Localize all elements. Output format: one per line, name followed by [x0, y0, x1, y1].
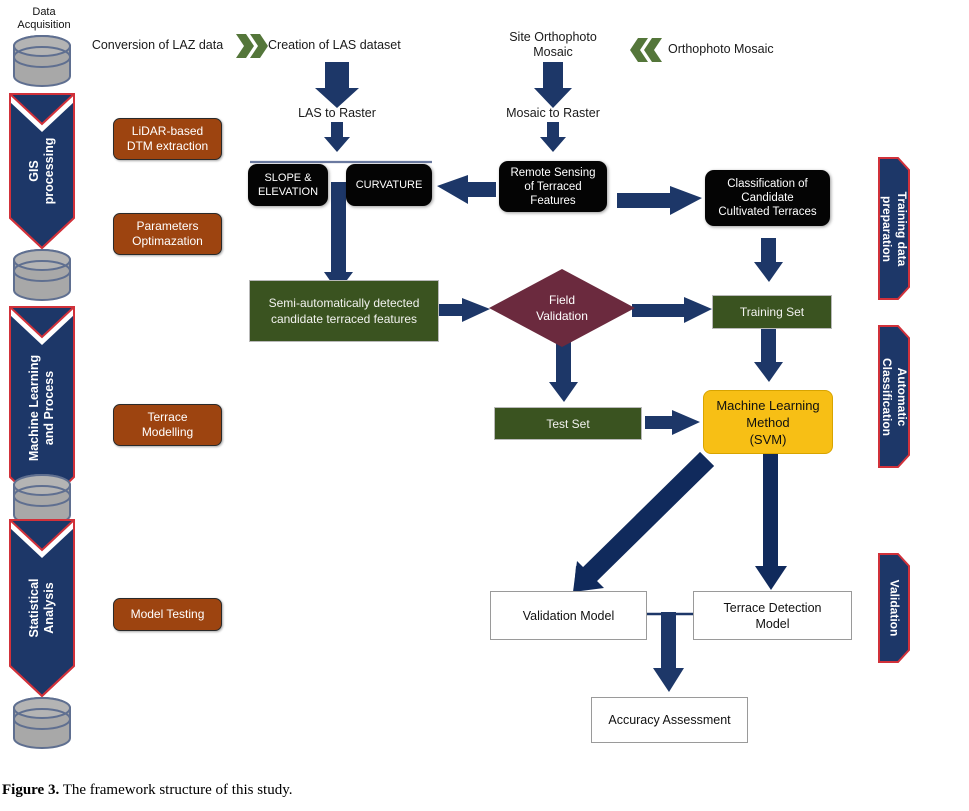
- phase-arrow-label: Statistical Analysis: [27, 533, 57, 683]
- arrow-field-validation-to-training-set: [632, 297, 712, 323]
- label-conversion-of-laz-data: Conversion of LAZ data: [80, 38, 235, 53]
- arrow-orthophoto-to-mosaic-raster: [534, 62, 572, 108]
- box-validation-model[interactable]: Validation Model: [490, 591, 647, 640]
- chip-parameters-optimazation[interactable]: Parameters Optimazation: [113, 213, 222, 255]
- phase-arrow-label: GIS processing: [27, 96, 57, 246]
- figure-caption: Figure 3. The framework structure of thi…: [2, 782, 602, 799]
- arrow-las-dataset-to-las-raster: [315, 62, 359, 108]
- banner-validation: Validation: [878, 553, 910, 663]
- chip-terrace-modelling[interactable]: Terrace Modelling: [113, 404, 222, 446]
- arrow-mosaic-raster-to-remote-sensing: [540, 122, 566, 152]
- box-curvature[interactable]: CURVATURE: [346, 164, 432, 206]
- chevron-right-icon-1: [236, 34, 268, 58]
- label-las-to-raster: LAS to Raster: [272, 106, 402, 121]
- phase-arrow-statistical-analysis: Statistical Analysis: [8, 518, 76, 698]
- label-orthophoto-mosaic: Orthophoto Mosaic: [668, 42, 828, 57]
- label-creation-of-las-dataset: Creation of LAS dataset: [268, 38, 443, 53]
- phase-arrow-label: Machine Learning and Process: [27, 333, 57, 483]
- chip-model-testing[interactable]: Model Testing: [113, 598, 222, 631]
- figure-caption-text: The framework structure of this study.: [59, 782, 292, 798]
- figure-canvas: Data Acquisition GIS processing Machine …: [0, 0, 969, 811]
- datastore-1: [10, 34, 74, 88]
- arrow-remote-sensing-to-classification: [617, 186, 702, 215]
- column-title-data-acquisition: Data Acquisition: [8, 6, 80, 32]
- phase-arrow-gis-processing: GIS processing: [8, 92, 76, 250]
- box-slope-elevation[interactable]: SLOPE & ELEVATION: [248, 164, 328, 206]
- box-semi-automatically-detected[interactable]: Semi-automatically detected candidate te…: [249, 280, 439, 342]
- box-accuracy-assessment[interactable]: Accuracy Assessment: [591, 697, 748, 743]
- box-training-set[interactable]: Training Set: [712, 295, 832, 329]
- arrow-training-set-to-svm: [754, 325, 783, 382]
- arrow-classification-to-training-set: [754, 238, 783, 282]
- arrow-semi-auto-to-field-validation: [437, 298, 490, 322]
- label-site-orthophoto-mosaic: Site Orthophoto Mosaic: [492, 30, 614, 60]
- box-test-set[interactable]: Test Set: [494, 407, 642, 440]
- shape-field-validation[interactable]: Field Validation: [488, 268, 636, 348]
- banner-automatic-classification: Automatic Classification: [878, 325, 910, 468]
- arrow-remote-sensing-to-derivatives: [437, 175, 496, 204]
- banner-training-data-preparation: Training data preparation: [878, 157, 910, 300]
- arrow-field-validation-to-test-set: [549, 340, 578, 402]
- datastore-2: [10, 248, 74, 302]
- datastore-4: [10, 696, 74, 750]
- arrow-svm-to-terrace-detection: [755, 452, 787, 590]
- banner-label: Automatic Classification: [879, 302, 909, 492]
- banner-label: Validation: [887, 513, 902, 703]
- connector-models-to-accuracy: [643, 612, 694, 692]
- chip-lidar-dtm-extraction[interactable]: LiDAR-based DTM extraction: [113, 118, 222, 160]
- arrow-svm-to-validation-model: [573, 452, 714, 592]
- box-machine-learning-method-svm[interactable]: Machine Learning Method (SVM): [703, 390, 833, 454]
- label-mosaic-to-raster: Mosaic to Raster: [488, 106, 618, 121]
- banner-label: Training data preparation: [879, 134, 909, 324]
- figure-caption-label: Figure 3.: [2, 782, 59, 798]
- arrow-las-raster-to-derivatives: [324, 122, 350, 152]
- chevron-left-icon-1: [630, 38, 662, 62]
- box-terrace-detection-model[interactable]: Terrace Detection Model: [693, 591, 852, 640]
- arrow-test-set-to-svm: [645, 410, 700, 435]
- box-remote-sensing[interactable]: Remote Sensing of Terraced Features: [499, 161, 607, 212]
- field-validation-label: Field Validation: [488, 268, 636, 348]
- box-classification-candidate-terraces[interactable]: Classification of Candidate Cultivated T…: [705, 170, 830, 226]
